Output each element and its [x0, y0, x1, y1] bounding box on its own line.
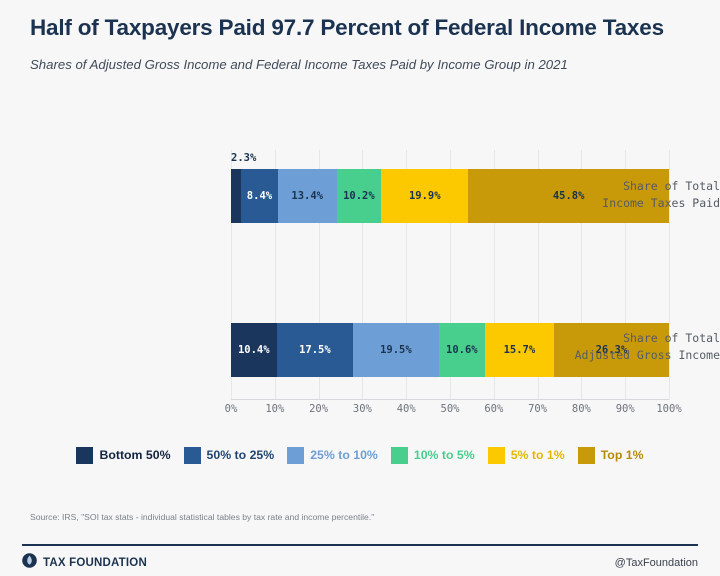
bar-segment-value: 19.9% [409, 190, 441, 202]
chart-card: Half of Taxpayers Paid 97.7 Percent of F… [0, 0, 720, 576]
legend-label: 25% to 10% [310, 448, 378, 462]
bar-segment[interactable]: 17.5% [277, 323, 354, 377]
brand: TAX FOUNDATION [22, 553, 147, 573]
legend-item[interactable]: Top 1% [578, 447, 644, 464]
category-label-line: Income Taxes Paid [535, 195, 720, 212]
legend-label: Bottom 50% [99, 448, 170, 462]
social-handle[interactable]: @TaxFoundation [615, 557, 698, 569]
chart-legend: Bottom 50%50% to 25%25% to 10%10% to 5%5… [30, 437, 690, 473]
footer: TAX FOUNDATION @TaxFoundation [22, 552, 698, 574]
x-axis-tick-label: 70% [528, 403, 547, 415]
bar-segment-value: 10.2% [343, 190, 375, 202]
bar-segment-value: 13.4% [291, 190, 323, 202]
bar-segment[interactable]: 10.2% [337, 169, 382, 223]
bar-segment[interactable]: 13.4% [278, 169, 337, 223]
category-label-line: Share of Total [535, 178, 720, 195]
bar-segment-callout-value: 2.3% [231, 152, 256, 164]
source-note: Source: IRS, "SOI tax stats - individual… [30, 512, 374, 522]
bar-segment[interactable]: 8.4% [241, 169, 278, 223]
legend-item[interactable]: Bottom 50% [76, 447, 170, 464]
legend-label: Top 1% [601, 448, 644, 462]
x-axis-tick-label: 40% [397, 403, 416, 415]
bar-segment[interactable]: 10.4% [231, 323, 277, 377]
legend-label: 10% to 5% [414, 448, 475, 462]
bar-segment-value: 15.7% [504, 344, 536, 356]
brand-name: TAX FOUNDATION [43, 557, 147, 569]
legend-swatch [391, 447, 408, 464]
page-title: Half of Taxpayers Paid 97.7 Percent of F… [30, 14, 680, 42]
legend-swatch [184, 447, 201, 464]
chart-subtitle: Shares of Adjusted Gross Income and Fede… [30, 55, 660, 74]
category-label-line: Adjusted Gross Income [535, 347, 720, 364]
x-axis-tick-label: 90% [616, 403, 635, 415]
category-label-line: Share of Total [535, 330, 720, 347]
x-axis-tick-label: 20% [309, 403, 328, 415]
bar-segment-value: 17.5% [299, 344, 331, 356]
bar-segment[interactable]: 10.6% [439, 323, 485, 377]
x-axis-tick-label: 10% [265, 403, 284, 415]
legend-swatch [76, 447, 93, 464]
x-axis-line [231, 399, 669, 400]
chart-header: Half of Taxpayers Paid 97.7 Percent of F… [30, 14, 680, 74]
x-axis-tick-label: 0% [225, 403, 238, 415]
legend-label: 50% to 25% [207, 448, 275, 462]
bar-segment-value: 8.4% [247, 190, 272, 202]
legend-swatch [287, 447, 304, 464]
footer-divider [22, 544, 698, 546]
x-axis-tick-label: 60% [484, 403, 503, 415]
legend-item[interactable]: 25% to 10% [287, 447, 378, 464]
legend-swatch [578, 447, 595, 464]
tax-foundation-logo-icon [22, 553, 37, 573]
legend-item[interactable]: 5% to 1% [488, 447, 565, 464]
legend-item[interactable]: 10% to 5% [391, 447, 475, 464]
legend-swatch [488, 447, 505, 464]
legend-item[interactable]: 50% to 25% [184, 447, 275, 464]
bar-segment-value: 19.5% [380, 344, 412, 356]
legend-label: 5% to 1% [511, 448, 565, 462]
x-axis-ticks: 0%10%20%30%40%50%60%70%80%90%100% [231, 403, 669, 419]
bar-segment[interactable]: 2.3% [231, 169, 241, 223]
x-axis-tick-label: 100% [656, 403, 681, 415]
bar-segment-value: 10.4% [238, 344, 270, 356]
bar-segment[interactable]: 19.9% [381, 169, 468, 223]
x-axis-tick-label: 80% [572, 403, 591, 415]
bar-segment[interactable]: 19.5% [353, 323, 438, 377]
x-axis-tick-label: 50% [441, 403, 460, 415]
x-axis-tick-label: 30% [353, 403, 372, 415]
category-label-adjusted-gross-income: Share of TotalAdjusted Gross Income [535, 330, 720, 363]
bar-segment-value: 10.6% [446, 344, 478, 356]
category-label-income-taxes-paid: Share of TotalIncome Taxes Paid [535, 178, 720, 211]
